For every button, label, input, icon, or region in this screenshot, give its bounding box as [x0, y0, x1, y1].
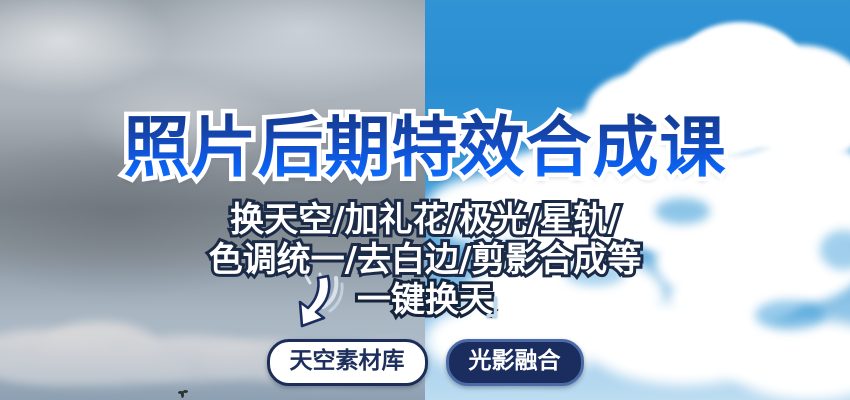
feature-callout: 一键换天 [0, 278, 850, 322]
badge-sky-material-library[interactable]: 天空素材库 [267, 339, 428, 386]
subtitle-line-2: 色调统一/去白边/剪影合成等 [0, 240, 850, 280]
bracket-mark: 」 [486, 290, 516, 320]
feature-callout-row: 一键换天 一键换天 [0, 278, 850, 326]
page-title: 照片后期特效合成课 [0, 113, 850, 183]
badge-light-shadow-blend[interactable]: 光影融合 [446, 339, 584, 386]
course-promo-banner: 照片后期特效合成课 照片后期特效合成课 换天空/加礼花/极光/星轨/ 换天空/加… [0, 0, 850, 400]
subtitle-line-1: 换天空/加礼花/极光/星轨/ [0, 200, 850, 240]
curved-down-arrow-icon [292, 272, 354, 330]
badge-row: 天空素材库 光影融合 [0, 339, 850, 386]
banner-content: 照片后期特效合成课 照片后期特效合成课 换天空/加礼花/极光/星轨/ 换天空/加… [0, 0, 850, 400]
